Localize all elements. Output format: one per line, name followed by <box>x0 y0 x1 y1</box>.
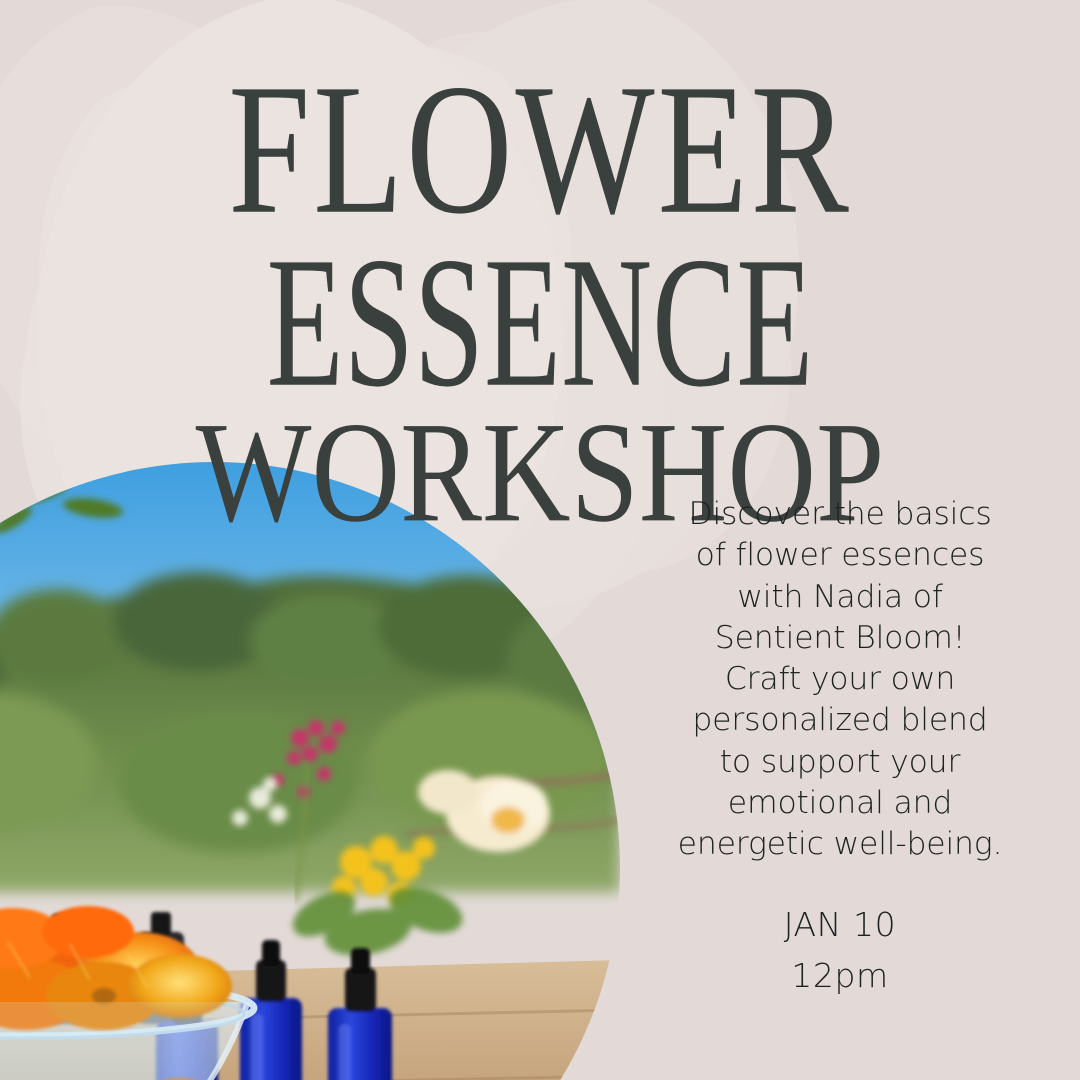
title-line-flower: FLOWER <box>16 58 1064 241</box>
poster-title: FLOWER ESSENCE WORKSHOP <box>0 58 1080 518</box>
event-when: JAN 10 12pm <box>630 899 1050 1001</box>
workshop-photo <box>0 462 620 1080</box>
description-text: Discover the basics of flower essences w… <box>630 494 1050 865</box>
photo-illustration <box>0 462 620 1080</box>
event-time: 12pm <box>630 950 1050 1001</box>
poster-canvas: FLOWER ESSENCE WORKSHOP <box>0 0 1080 1080</box>
title-line-essence: ESSENCE <box>92 231 988 414</box>
event-date: JAN 10 <box>630 899 1050 950</box>
event-copy-block: Discover the basics of flower essences w… <box>630 494 1050 1002</box>
